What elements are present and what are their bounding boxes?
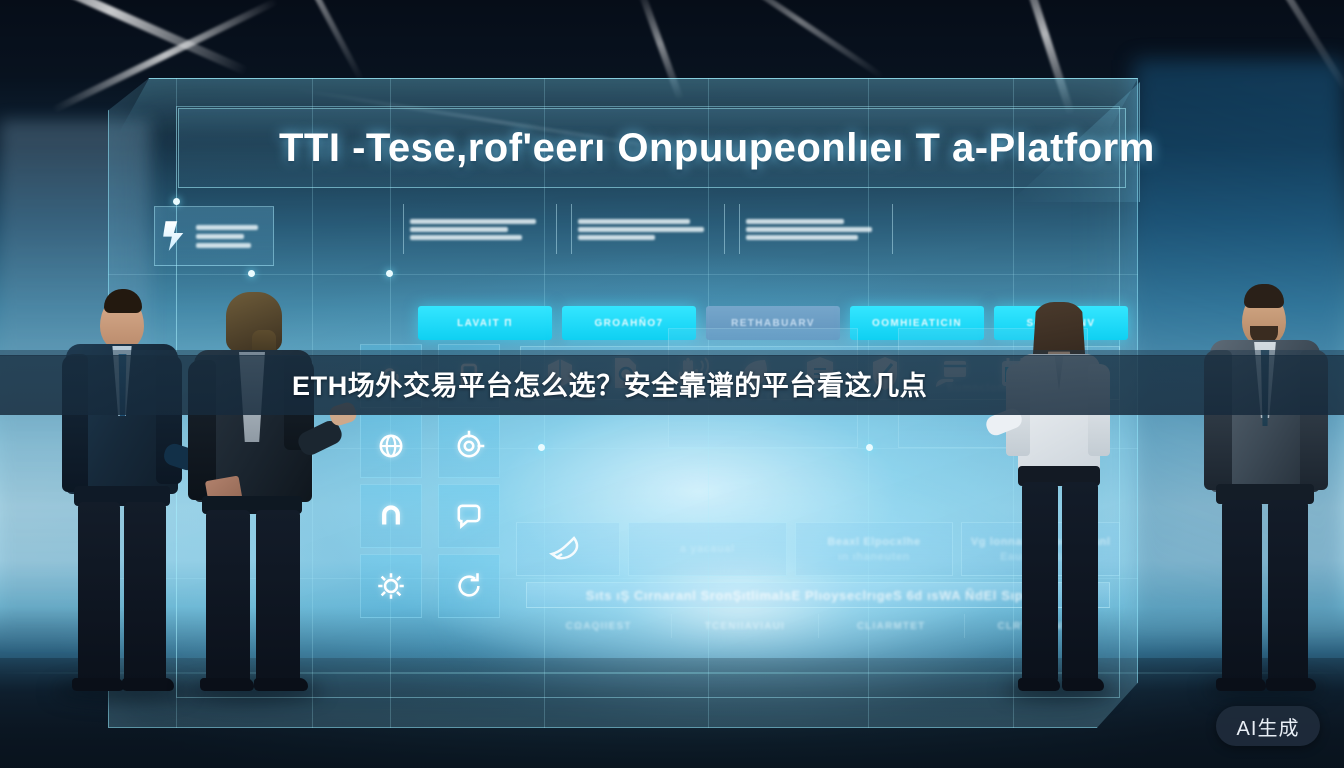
bolt-logo-icon bbox=[163, 221, 189, 251]
hud-chip-0[interactable]: CΩAQIIEST bbox=[526, 614, 672, 638]
hud-node bbox=[386, 270, 393, 277]
hud-node bbox=[866, 444, 873, 451]
hud-lower-cell-line: Beaxl Elpocxlhe bbox=[827, 536, 920, 548]
hud-subtext-cell bbox=[739, 204, 893, 254]
hud-subtext-cell bbox=[571, 204, 725, 254]
hud-lower-cell-1[interactable]: a yacaual bbox=[628, 522, 787, 576]
hud-chip-1[interactable]: TCENIIAVIAUI bbox=[672, 614, 818, 638]
hud-lower-cell-2[interactable]: Beaxl Elpocxlhe ın ıhaneuten bbox=[795, 522, 954, 576]
hud-subtext-row bbox=[403, 204, 893, 254]
hud-subtext-cell bbox=[403, 204, 557, 254]
sidebar-item-globe[interactable] bbox=[360, 414, 422, 478]
sidebar-item-gear[interactable] bbox=[360, 554, 422, 618]
page-title: ETH场外交易平台怎么选？安全靠谱的平台看这几点 bbox=[292, 366, 1072, 406]
sidebar-item-refresh[interactable] bbox=[438, 554, 500, 618]
hud-headline: TTI -Tese,rof'eerı Onpuupeonlıeı T a-Pla… bbox=[179, 126, 1155, 171]
banner-image: TTI -Tese,rof'eerı Onpuupeonlıeı T a-Pla… bbox=[0, 0, 1344, 768]
sidebar-item-magnet[interactable] bbox=[360, 484, 422, 548]
hud-logo-block bbox=[154, 206, 274, 266]
hud-lower-cell-0[interactable] bbox=[516, 522, 620, 576]
hud-node bbox=[248, 270, 255, 277]
sidebar-item-chat[interactable] bbox=[438, 484, 500, 548]
hud-headline-row: TTI -Tese,rof'eerı Onpuupeonlıeı T a-Pla… bbox=[178, 108, 1126, 188]
hud-lower-banner-text: Sıts ıŞ Cırnaranl SronŞıtlimalsE Plıoyse… bbox=[586, 588, 1050, 603]
hud-chip-2[interactable]: CLIARMTET bbox=[819, 614, 965, 638]
sidebar-item-target[interactable] bbox=[438, 414, 500, 478]
hud-node bbox=[538, 444, 545, 451]
hud-lower-cell-line: ın ıhaneuten bbox=[838, 551, 910, 563]
hud-guide-line bbox=[108, 274, 1138, 275]
hud-logo-caption bbox=[196, 225, 265, 248]
tab-item-0[interactable]: LAVAIT Π bbox=[418, 306, 552, 340]
ai-generated-badge: AI生成 bbox=[1216, 706, 1320, 746]
rocket-icon bbox=[548, 532, 588, 566]
hud-lower-cell-line: a yacaual bbox=[680, 543, 735, 555]
hud-node bbox=[173, 198, 180, 205]
